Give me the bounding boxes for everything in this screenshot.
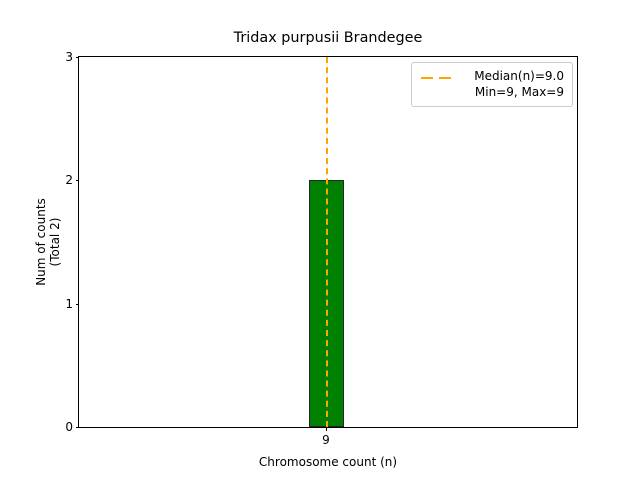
y-axis-label-line1: Num of counts — [34, 198, 49, 286]
y-axis-label-line2: (Total 2) — [48, 198, 63, 286]
xtick-label-9: 9 — [322, 434, 330, 446]
ytick-mark-0 — [76, 427, 80, 428]
ytick-label-2: 2 — [65, 174, 73, 186]
ytick-label-3: 3 — [65, 51, 73, 63]
plot-inner — [79, 57, 577, 427]
ytick-label-1: 1 — [65, 298, 73, 310]
chart-figure: Tridax purpusii Brandegee 0 1 2 3 9 Medi… — [0, 0, 640, 480]
legend[interactable]: Median(n)=9.0 Min=9, Max=9 — [411, 62, 573, 107]
legend-entry-median: Median(n)=9.0 Min=9, Max=9 — [461, 69, 564, 100]
legend-dashed-line-icon — [420, 71, 454, 85]
legend-label-median: Median(n)=9.0 — [461, 69, 564, 85]
legend-label-minmax: Min=9, Max=9 — [461, 85, 564, 101]
plot-area: 0 1 2 3 9 — [78, 56, 578, 428]
x-axis-label: Chromosome count (n) — [78, 455, 578, 469]
ytick-label-0: 0 — [65, 421, 73, 433]
xtick-mark-9 — [326, 427, 327, 431]
median-line — [326, 57, 328, 427]
y-axis-label: Num of counts (Total 2) — [34, 56, 62, 428]
chart-title: Tridax purpusii Brandegee — [78, 30, 578, 47]
